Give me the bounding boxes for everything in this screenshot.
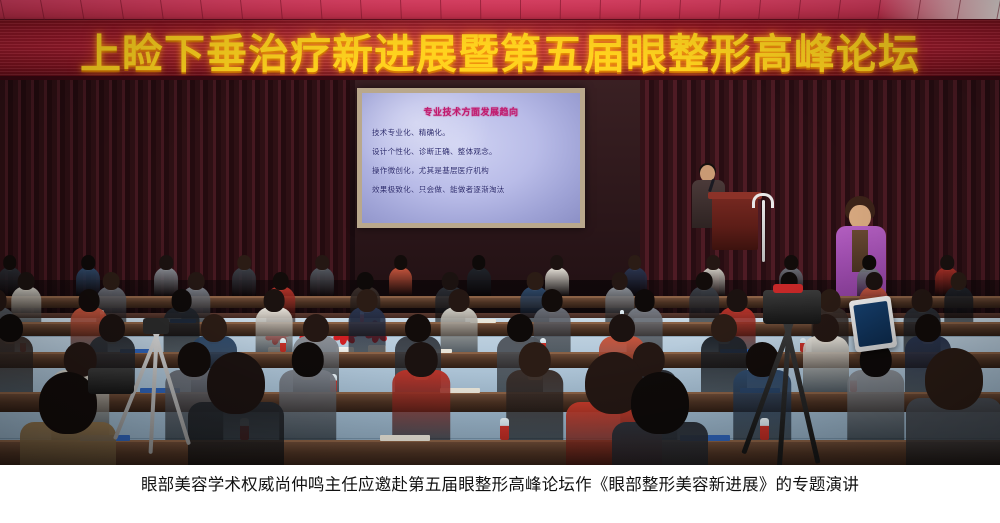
audience-head — [0, 314, 23, 342]
camera-red-accent — [773, 284, 803, 293]
audience-head — [405, 314, 431, 342]
audience-body — [847, 370, 905, 443]
slide-line: 操作微创化，尤其是基层医疗机构 — [372, 165, 572, 176]
audience-head — [507, 314, 533, 342]
audience-body — [279, 370, 337, 443]
tablet-screen — [853, 301, 893, 347]
audience-head — [238, 255, 252, 270]
audience-head — [394, 255, 408, 270]
audience-member — [279, 342, 337, 450]
audience-head — [609, 314, 635, 342]
projection-screen-frame: 专业技术方面发展趋向 技术专业化、精确化。 设计个性化、诊断正确、整体观念。 操… — [357, 88, 585, 228]
slide-line: 设计个性化、诊断正确、整体观念。 — [372, 146, 572, 157]
audience-head — [264, 289, 285, 311]
led-banner: 上睑下垂治疗新进展暨第五届眼整形高峰论坛 — [0, 20, 1000, 80]
audience-head — [634, 289, 655, 311]
audience-head — [18, 272, 35, 290]
audience-head — [519, 342, 552, 377]
audience-head — [912, 289, 933, 311]
audience-head — [941, 255, 955, 270]
audience-head — [201, 314, 227, 342]
audience-member — [393, 342, 451, 450]
tripod-left — [110, 330, 200, 460]
audience-head — [79, 289, 100, 311]
caption-text: 眼部美容学术权威尚仲鸣主任应邀赴第五届眼整形高峰论坛作《眼部整形美容新进展》的专… — [141, 471, 859, 495]
slide-line: 效果极致化、只会做、能做者逐渐淘汰 — [372, 184, 572, 195]
audience-head — [291, 342, 324, 377]
audience-head — [706, 255, 720, 270]
audience-head — [449, 289, 470, 311]
audience-member — [232, 255, 256, 300]
audience-body — [311, 267, 335, 297]
audience-head — [303, 314, 329, 342]
audience-head — [527, 272, 544, 290]
audience-head — [171, 289, 192, 311]
audience-member — [847, 342, 905, 450]
tripod-head — [143, 318, 169, 334]
audience-head — [159, 255, 173, 270]
audience-head — [81, 255, 95, 270]
audience-head — [316, 255, 330, 270]
foreground-audience-member — [612, 372, 708, 465]
audience-member — [389, 255, 413, 300]
screenshot-root: 上睑下垂治疗新进展暨第五届眼整形高峰论坛 专业技术方面发展趋向 技术专业化、精确… — [0, 0, 1000, 523]
foreground-audience-member — [188, 352, 284, 465]
audience-member — [348, 289, 385, 358]
conference-photo: 上睑下垂治疗新进展暨第五届眼整形高峰论坛 专业技术方面发展趋向 技术专业化、精确… — [0, 0, 1000, 465]
audience-body — [389, 267, 413, 297]
ceiling-light-glow — [880, 0, 1000, 20]
audience-head — [863, 255, 877, 270]
caption-bar: 眼部美容学术权威尚仲鸣主任应邀赴第五届眼整形高峰论坛作《眼部整形美容新进展》的专… — [0, 465, 1000, 523]
foreground-audience-member — [906, 348, 1000, 465]
video-camera — [763, 290, 821, 324]
audience-head — [711, 314, 737, 342]
slide-line: 技术专业化、精确化。 — [372, 127, 572, 138]
ceiling-panels — [0, 0, 1000, 22]
dslr-camera — [88, 368, 134, 394]
audience-head — [696, 272, 713, 290]
audience-head — [188, 272, 205, 290]
tablet-device — [849, 295, 898, 352]
audience-body — [506, 370, 564, 443]
audience-member — [311, 255, 335, 300]
audience-head — [784, 255, 798, 270]
audience-body — [348, 307, 385, 353]
audience-head — [550, 255, 564, 270]
audience-head — [950, 272, 967, 290]
document-papers — [380, 435, 430, 441]
audience-member — [506, 342, 564, 450]
microphone-stand — [762, 200, 765, 262]
audience-head — [272, 272, 289, 290]
audience-body — [393, 370, 451, 443]
audience-head — [628, 255, 642, 270]
water-bottle — [500, 418, 509, 441]
audience-head — [866, 272, 883, 290]
audience-head — [542, 289, 563, 311]
audience-head — [3, 255, 17, 270]
audience-head — [356, 289, 377, 311]
tripod-right — [735, 300, 845, 465]
audience-head — [472, 255, 486, 270]
audience-body — [232, 267, 256, 297]
slide-body: 技术专业化、精确化。 设计个性化、诊断正确、整体观念。 操作微创化，尤其是基层医… — [372, 127, 572, 203]
audience-head — [611, 272, 628, 290]
audience-head — [357, 272, 374, 290]
banner-title-text: 上睑下垂治疗新进展暨第五届眼整形高峰论坛 — [0, 20, 1000, 80]
audience-head — [405, 342, 438, 377]
audience-head — [103, 272, 120, 290]
slide-title: 专业技术方面发展趋向 — [362, 105, 580, 118]
audience-head — [915, 314, 941, 342]
audience-head — [442, 272, 459, 290]
projection-screen: 专业技术方面发展趋向 技术专业化、精确化。 设计个性化、诊断正确、整体观念。 操… — [362, 93, 580, 223]
